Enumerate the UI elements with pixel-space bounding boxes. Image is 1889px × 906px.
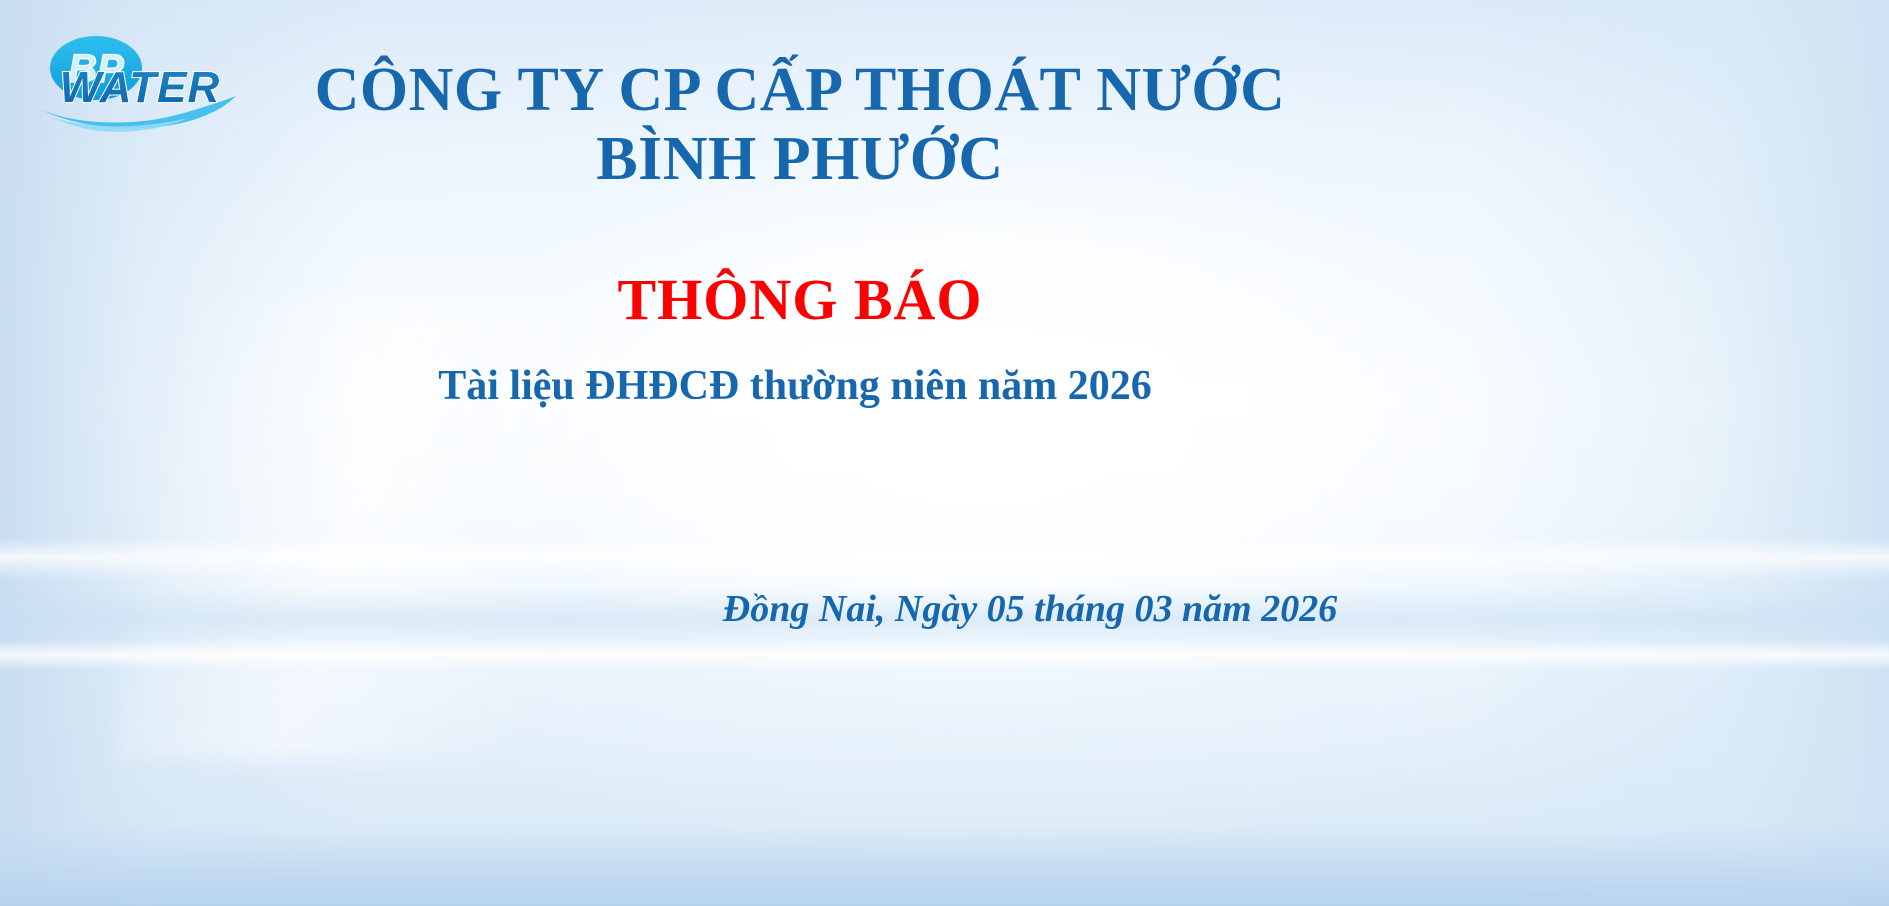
company-title-line1: CÔNG TY CP CẤP THOÁT NƯỚC <box>315 56 1286 124</box>
company-title: CÔNG TY CP CẤP THOÁT NƯỚC BÌNH PHƯỚC <box>270 56 1330 195</box>
announcement-slide: BP WATER CÔNG TY CP CẤP THOÁT NƯỚC BÌNH … <box>0 0 1889 906</box>
date-line: Đồng Nai, Ngày 05 tháng 03 năm 2026 <box>520 588 1540 632</box>
bp-water-logo: BP WATER <box>28 22 244 134</box>
logo-wordmark-text: WATER <box>60 63 221 112</box>
notice-heading: THÔNG BÁO <box>270 268 1330 332</box>
document-subtitle: Tài liệu ĐHĐCĐ thường niên năm 2026 <box>230 362 1360 410</box>
company-title-line2: BÌNH PHƯỚC <box>270 125 1330 194</box>
background-right-glow <box>1469 0 1889 906</box>
